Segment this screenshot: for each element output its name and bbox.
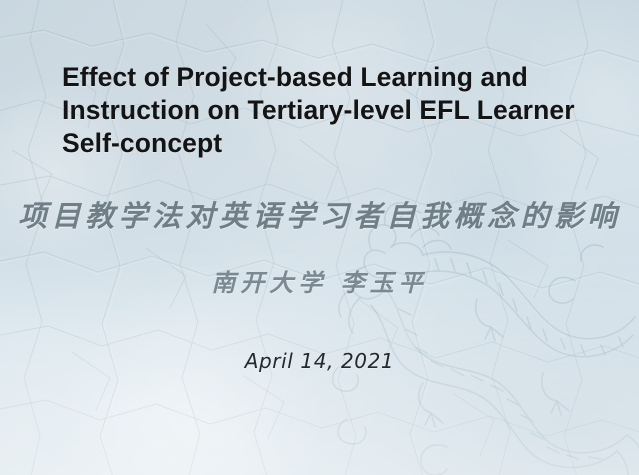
author-affiliation: 南开大学 李玉平 — [0, 266, 639, 300]
presentation-date: April 14, 2021 — [0, 348, 639, 374]
slide-content: Effect of Project-based Learning and Ins… — [0, 0, 639, 475]
chinese-subtitle: 项目教学法对英语学习者自我概念的影响 — [0, 196, 639, 236]
title-slide: Effect of Project-based Learning and Ins… — [0, 0, 639, 475]
page-title: Effect of Project-based Learning and Ins… — [62, 61, 568, 160]
title-line-1: Effect of Project-based Learning and — [62, 61, 568, 94]
title-line-2: Instruction on Tertiary-level EFL Learne… — [62, 94, 568, 127]
title-line-3: Self-concept — [62, 127, 568, 160]
